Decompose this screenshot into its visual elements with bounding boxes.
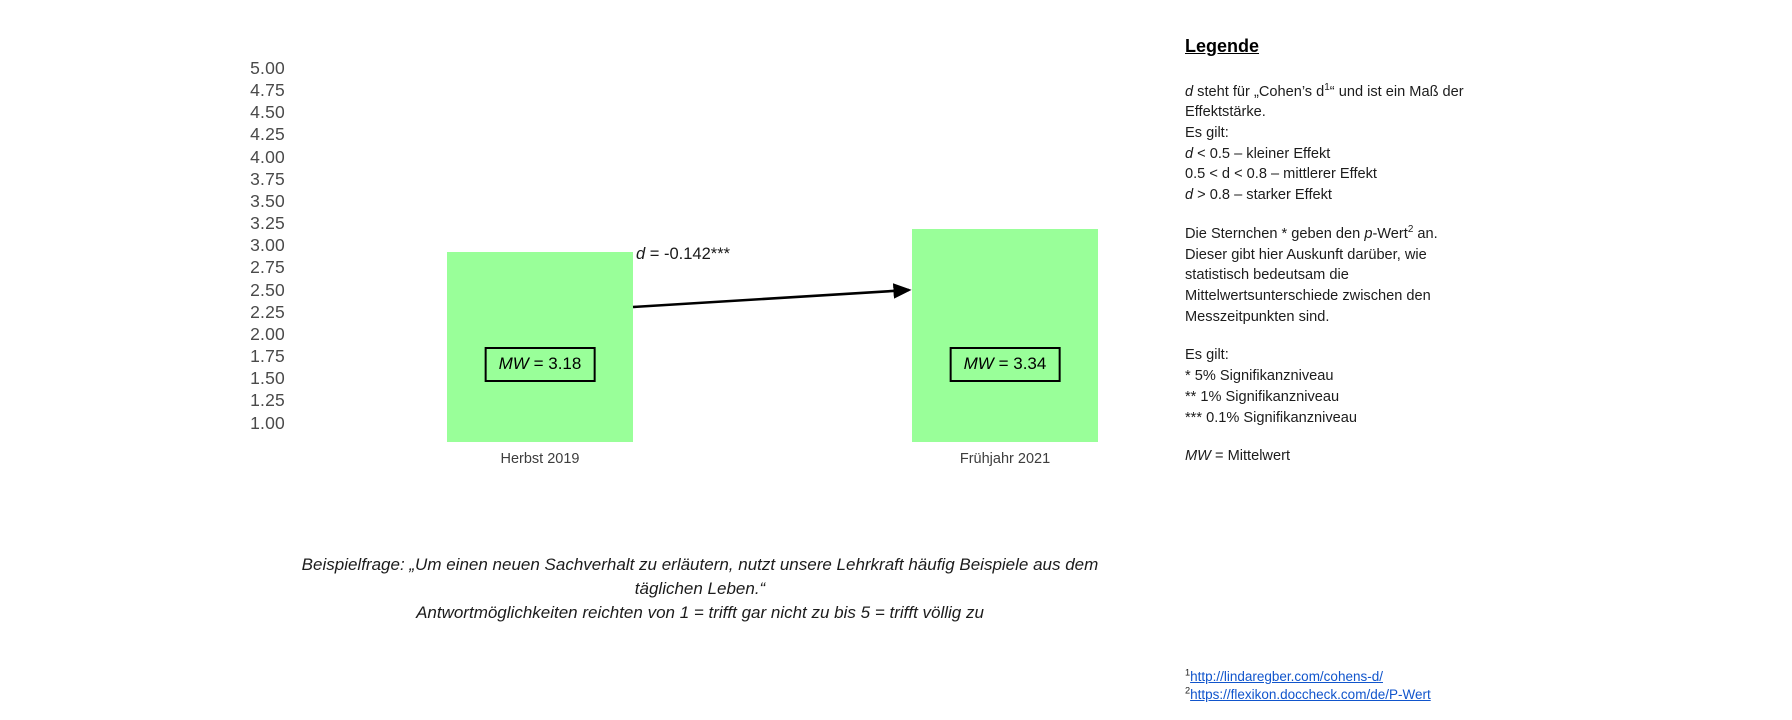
mean-value: = 3.18 — [534, 354, 582, 373]
legend-line: MW = Mittelwert — [1185, 446, 1515, 467]
legend-line: Messzeitpunkten sind. — [1185, 307, 1515, 328]
footnote-1: 1http://lindaregber.com/cohens-d/ — [1185, 668, 1431, 686]
mean-label: MW — [964, 354, 994, 373]
legend-line: 0.5 < d < 0.8 – mittlerer Effekt — [1185, 164, 1515, 185]
y-tick: 3.50 — [250, 193, 285, 211]
legend-block-cohens-d: d steht für „Cohen’s d1“ und ist ein Maß… — [1185, 82, 1515, 206]
y-tick: 4.50 — [250, 104, 285, 122]
legend-line: Es gilt: — [1185, 123, 1515, 144]
category-label-herbst-2019: Herbst 2019 — [501, 451, 580, 467]
legend-panel: Legende d steht für „Cohen’s d1“ und ist… — [1185, 34, 1515, 485]
category-label-fruehjahr-2021: Frühjahr 2021 — [960, 451, 1050, 467]
effect-size-symbol: d — [636, 245, 645, 263]
legend-line: * 5% Signifikanzniveau — [1185, 366, 1515, 387]
legend-block-p-value: Die Sternchen * geben den p-Wert2 an. Di… — [1185, 224, 1515, 328]
mean-label: MW — [499, 354, 529, 373]
y-tick: 2.25 — [250, 304, 285, 322]
mean-value-box-herbst-2019: MW = 3.18 — [485, 347, 596, 382]
legend-block-significance: Es gilt: * 5% Signifikanzniveau ** 1% Si… — [1185, 345, 1515, 428]
d-symbol: d — [1185, 84, 1193, 100]
legend-text: “ und ist ein Maß der — [1330, 84, 1464, 100]
legend-block-mittelwert: MW = Mittelwert — [1185, 446, 1515, 467]
legend-title: Legende — [1185, 34, 1515, 60]
bar-group-fruehjahr-2021: MW = 3.34 Frühjahr 2021 — [912, 229, 1098, 442]
caption-line-1: Beispielfrage: „Um einen neuen Sachverha… — [280, 553, 1120, 577]
y-tick: 3.00 — [250, 237, 285, 255]
legend-line: d steht für „Cohen’s d1“ und ist ein Maß… — [1185, 82, 1515, 103]
y-tick: 4.75 — [250, 82, 285, 100]
legend-text: = Mittelwert — [1211, 448, 1290, 464]
legend-line: Die Sternchen * geben den p-Wert2 an. — [1185, 224, 1515, 245]
y-tick: 1.75 — [250, 348, 285, 366]
y-tick: 1.25 — [250, 392, 285, 410]
legend-line: ** 1% Signifikanzniveau — [1185, 387, 1515, 408]
y-tick: 3.75 — [250, 171, 285, 189]
chart-panel: 5.00 4.75 4.50 4.25 4.00 3.75 3.50 3.25 … — [0, 0, 1180, 720]
y-tick: 3.25 — [250, 215, 285, 233]
legend-text: Die Sternchen * geben den — [1185, 226, 1364, 242]
legend-text: steht für „Cohen’s d — [1193, 84, 1324, 100]
y-tick: 5.00 — [250, 60, 285, 78]
y-tick: 2.50 — [250, 282, 285, 300]
chart-caption: Beispielfrage: „Um einen neuen Sachverha… — [280, 553, 1120, 625]
plot-area: MW = 3.18 Herbst 2019 MW = 3.34 Frühjahr… — [300, 62, 1120, 492]
footnote-link-cohens-d[interactable]: http://lindaregber.com/cohens-d/ — [1190, 669, 1383, 684]
y-tick: 2.00 — [250, 326, 285, 344]
d-symbol: d — [1185, 187, 1193, 203]
legend-line: Mittelwertsunterschiede zwischen den — [1185, 286, 1515, 307]
y-tick: 1.50 — [250, 370, 285, 388]
bar-group-herbst-2019: MW = 3.18 Herbst 2019 — [447, 252, 633, 442]
footnotes: 1http://lindaregber.com/cohens-d/ 2https… — [1185, 668, 1431, 704]
mw-symbol: MW — [1185, 448, 1211, 464]
legend-line: statistisch bedeutsam die — [1185, 265, 1515, 286]
legend-text: > 0.8 – starker Effekt — [1193, 187, 1332, 203]
legend-line: Es gilt: — [1185, 345, 1515, 366]
legend-line: d > 0.8 – starker Effekt — [1185, 185, 1515, 206]
y-tick: 4.25 — [250, 126, 285, 144]
y-axis-tick-labels: 5.00 4.75 4.50 4.25 4.00 3.75 3.50 3.25 … — [225, 60, 285, 432]
caption-line-2: täglichen Leben.“ — [280, 577, 1120, 601]
mean-value: = 3.34 — [999, 354, 1047, 373]
legend-text: < 0.5 – kleiner Effekt — [1193, 146, 1330, 162]
legend-line: Dieser gibt hier Auskunft darüber, wie — [1185, 245, 1515, 266]
legend-text: an. — [1413, 226, 1437, 242]
legend-text: -Wert — [1372, 226, 1407, 242]
effect-size-label: d = -0.142*** — [636, 245, 730, 264]
y-tick: 2.75 — [250, 259, 285, 277]
footnote-link-p-wert[interactable]: https://flexikon.doccheck.com/de/P-Wert — [1190, 687, 1431, 702]
y-tick: 4.00 — [250, 149, 285, 167]
mean-value-box-fruehjahr-2021: MW = 3.34 — [950, 347, 1061, 382]
y-tick: 1.00 — [250, 415, 285, 433]
effect-size-value: = -0.142*** — [650, 245, 730, 263]
d-symbol: d — [1185, 146, 1193, 162]
legend-line: d < 0.5 – kleiner Effekt — [1185, 144, 1515, 165]
caption-line-3: Antwortmöglichkeiten reichten von 1 = tr… — [280, 601, 1120, 625]
footnote-2: 2https://flexikon.doccheck.com/de/P-Wert — [1185, 686, 1431, 704]
bar-fruehjahr-2021 — [912, 229, 1098, 442]
legend-line: Effektstärke. — [1185, 102, 1515, 123]
legend-line: *** 0.1% Signifikanzniveau — [1185, 408, 1515, 429]
